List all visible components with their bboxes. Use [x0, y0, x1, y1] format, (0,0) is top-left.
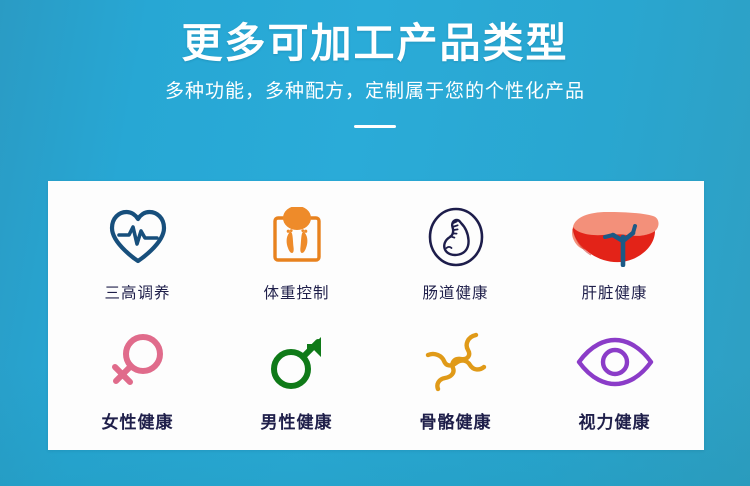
grid-item-three-highs[interactable]: 三高调养	[58, 195, 217, 318]
liver-icon	[567, 207, 663, 267]
grid-item-gut-health[interactable]: 肠道健康	[376, 195, 535, 318]
grid-item-label: 男性健康	[261, 408, 333, 433]
bone-squiggle-icon	[420, 329, 492, 395]
icon-container	[574, 324, 656, 400]
title-divider	[354, 125, 396, 128]
icon-container	[266, 324, 328, 400]
heart-pulse-icon	[107, 208, 169, 266]
icon-container	[107, 324, 169, 400]
grid-item-label: 视力健康	[579, 408, 651, 433]
icon-container	[420, 324, 492, 400]
female-symbol-icon	[107, 330, 169, 394]
promo-banner: 更多可加工产品类型 多种功能，多种配方，定制属于您的个性化产品 三高调养	[0, 0, 750, 486]
grid-item-liver-health[interactable]: 肝脏健康	[535, 195, 694, 318]
grid-item-female-health[interactable]: 女性健康	[58, 318, 217, 441]
stomach-circle-icon	[426, 206, 486, 268]
product-type-card: 三高调养 体重控制	[48, 181, 704, 450]
product-type-grid: 三高调养 体重控制	[48, 181, 704, 450]
page-title: 更多可加工产品类型	[0, 20, 750, 67]
icon-container	[426, 201, 486, 273]
grid-item-vision-health[interactable]: 视力健康	[535, 318, 694, 441]
grid-item-label: 女性健康	[102, 408, 174, 433]
male-symbol-icon	[266, 330, 328, 394]
page-subtitle: 多种功能，多种配方，定制属于您的个性化产品	[0, 81, 750, 104]
icon-container	[267, 201, 327, 273]
icon-container	[107, 201, 169, 273]
grid-item-male-health[interactable]: 男性健康	[217, 318, 376, 441]
grid-item-label: 肠道健康	[422, 281, 488, 303]
grid-item-weight-control[interactable]: 体重控制	[217, 195, 376, 318]
grid-item-label: 骨骼健康	[420, 408, 492, 433]
banner-header: 更多可加工产品类型 多种功能，多种配方，定制属于您的个性化产品	[0, 0, 750, 128]
icon-container	[567, 201, 663, 273]
grid-item-label: 肝脏健康	[581, 281, 647, 303]
weight-scale-icon	[267, 207, 327, 267]
grid-item-bone-health[interactable]: 骨骼健康	[376, 318, 535, 441]
eye-icon	[574, 336, 656, 388]
grid-item-label: 三高调养	[104, 281, 170, 303]
grid-item-label: 体重控制	[263, 281, 329, 303]
